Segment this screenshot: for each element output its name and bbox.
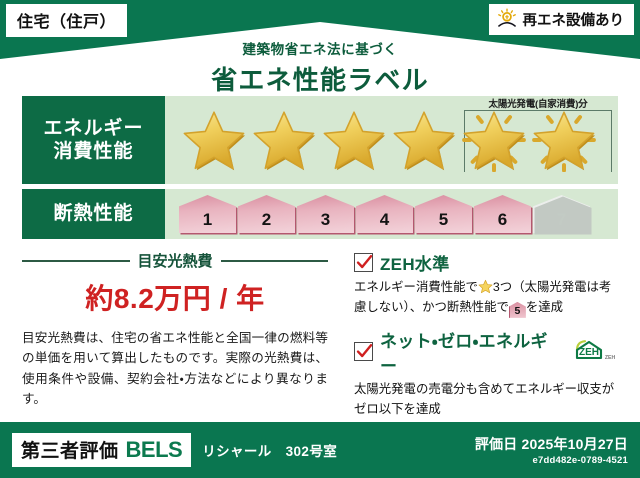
svg-text:ZEH: ZEH [579,348,599,359]
bels-jp-label: 第三者評価 [21,436,119,463]
insulation-level-inline-value: 5 [514,305,520,317]
energy-label-line1: エネルギー [43,117,143,140]
claim-net-zero-energy-head: ネット・ゼロ・エネルギー ZEH ZEH [354,327,618,377]
sun-solar-icon [496,8,518,30]
claim-zeh-text-3: を達成 [526,300,563,314]
insulation-badge-value: 1 [203,210,212,230]
property-name: リシャール 302号室 [202,440,337,460]
claim-zeh-standard-body: エネルギー消費性能で 3つ（太陽光発電は考慮しない）、かつ断熱性能で5を達成 [354,278,618,318]
svg-text:ZEH: ZEH [605,355,616,361]
star-rating [179,107,598,173]
insulation-level-inline-badge: 5 [509,302,526,318]
utility-cost-heading: 目安光熱費 [22,250,328,271]
insulation-badge-list: 1234567 [179,195,590,233]
label-title: 建築物省エネ法に基づく 省エネ性能ラベル [0,38,640,97]
claim-net-zero-energy-title: ネット・ゼロ・エネルギー [380,327,560,377]
claims-column: ZEH水準 エネルギー消費性能で 3つ（太陽光発電は考慮しない）、かつ断熱性能で… [340,250,618,400]
star-solar-icon [529,107,598,173]
energy-performance-label: エネルギー 消費性能 [22,96,165,184]
label-footer: 第三者評価 BELS リシャール 302号室 評価日 2025年10月27日 e… [0,422,640,478]
claim-zeh-standard-title: ZEH水準 [380,250,450,275]
insulation-badge-3: 3 [297,195,354,233]
dwelling-type-tag: 住宅（住戸） [6,4,127,37]
dwelling-type-label: 住宅（住戸） [17,8,116,32]
insulation-badge-2: 2 [238,195,295,233]
insulation-badge-value: 3 [321,210,330,230]
star-icon [478,279,493,294]
utility-cost-column: 目安光熱費 約8.2万円 / 年 目安光熱費は、住宅の省エネ性能と全国一律の燃料… [22,250,340,400]
star-icon [319,107,388,173]
insulation-badge-value: 2 [262,210,271,230]
footer-meta: 評価日 2025年10月27日 e7dd482e-0789-4521 [475,434,628,466]
insulation-badge-1: 1 [179,195,236,233]
renewable-equipment-label: 再エネ設備あり [523,9,625,30]
checkbox-checked-icon [354,342,373,361]
star-icon [249,107,318,173]
claim-zeh-text-1: エネルギー消費性能で [354,280,478,294]
energy-performance-label: 住宅（住戸） 再エネ設備あり 建築物省エネ法に基づく 省エネ性能ラベル [0,0,640,478]
insulation-performance-label: 断熱性能 [22,189,165,239]
label-title-sub: 建築物省エネ法に基づく [0,38,640,58]
lower-section: 目安光熱費 約8.2万円 / 年 目安光熱費は、住宅の省エネ性能と全国一律の燃料… [22,250,618,400]
zeh-logo-icon: ZEH ZEH [570,336,618,367]
cost-rule-right [221,260,329,262]
insulation-badge-value: 7 [557,210,566,230]
bels-en-label: BELS [126,437,183,463]
label-title-main: 省エネ性能ラベル [0,60,640,97]
claim-zeh-standard-head: ZEH水準 [354,250,618,275]
insulation-badge-4: 4 [356,195,413,233]
insulation-performance-row: 断熱性能 1234567 [22,189,618,239]
claim-net-zero-energy-body: 太陽光発電の売電分も含めてエネルギー収支がゼロ以下を達成 [354,380,618,420]
energy-performance-stars-panel: 太陽光発電(自家消費)分 [165,96,618,184]
label-content: エネルギー 消費性能 太陽光発電(自家消費)分 断熱性能 1234567 [0,96,640,418]
insulation-badge-5: 5 [415,195,472,233]
insulation-label-text: 断熱性能 [53,202,133,225]
insulation-badge-7: 7 [533,195,590,233]
renewable-equipment-tag: 再エネ設備あり [489,4,635,35]
insulation-badge-6: 6 [474,195,531,233]
cost-heading-text: 目安光熱費 [138,250,213,271]
claim-net-zero-energy: ネット・ゼロ・エネルギー ZEH ZEH 太陽光発電の売電分も含めてエネルギー収… [354,327,618,420]
utility-cost-note: 目安光熱費は、住宅の省エネ性能と全国一律の燃料等の単価を用いて算出したものです。… [22,328,328,410]
energy-label-line2: 消費性能 [53,140,133,163]
star-solar-icon [459,107,528,173]
star-icon [179,107,248,173]
insulation-badge-value: 6 [498,210,507,230]
insulation-badge-value: 4 [380,210,389,230]
star-icon [389,107,458,173]
utility-cost-value: 約8.2万円 / 年 [22,277,328,317]
cost-rule-left [22,260,130,262]
insulation-badge-value: 5 [439,210,448,230]
checkbox-checked-icon [354,253,373,272]
claim-zeh-standard: ZEH水準 エネルギー消費性能で 3つ（太陽光発電は考慮しない）、かつ断熱性能で… [354,250,618,318]
energy-performance-row: エネルギー 消費性能 太陽光発電(自家消費)分 [22,96,618,184]
bels-certification-mark: 第三者評価 BELS [12,433,191,467]
evaluation-date: 評価日 2025年10月27日 [475,434,628,454]
reference-code: e7dd482e-0789-4521 [475,455,628,466]
insulation-badges-panel: 1234567 [165,189,618,239]
